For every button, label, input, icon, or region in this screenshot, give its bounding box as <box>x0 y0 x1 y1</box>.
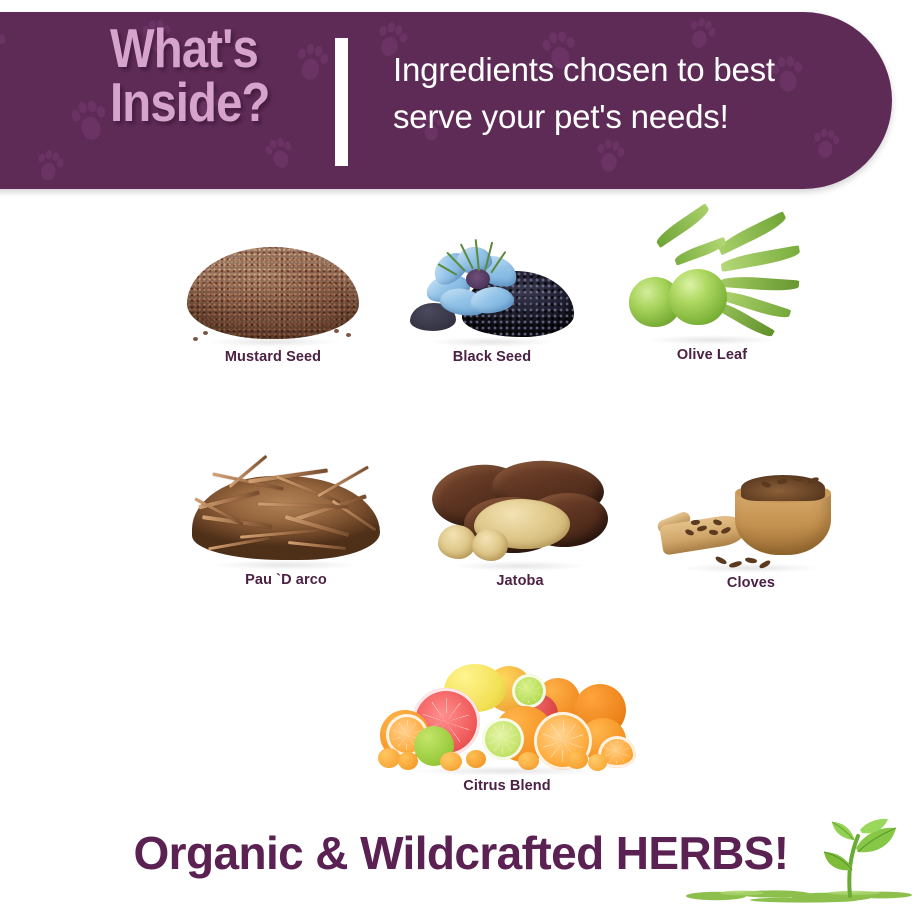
ingredient-cloves[interactable]: Cloves <box>656 463 846 591</box>
footer: Organic & Wildcrafted HERBS! <box>0 826 922 906</box>
mustard-seed-image <box>187 235 359 343</box>
ingredient-olive-leaf[interactable]: Olive Leaf <box>626 233 798 363</box>
pau-darco-image <box>188 458 384 566</box>
banner-subheading: Ingredients chosen to best serve your pe… <box>393 47 883 141</box>
banner-divider <box>335 38 348 166</box>
ingredient-label: Black Seed <box>407 349 577 365</box>
ingredient-label: Cloves <box>656 575 846 591</box>
ingredient-black-seed[interactable]: Black Seed <box>407 235 577 365</box>
ingredient-label: Citrus Blend <box>377 778 637 794</box>
cloves-image <box>657 463 845 569</box>
ingredient-label: Pau `D arco <box>186 572 386 588</box>
ingredient-jatoba[interactable]: Jatoba <box>428 457 612 589</box>
nigella-flower <box>426 239 530 317</box>
olive-leaf-image <box>627 233 797 341</box>
ingredient-citrus-blend[interactable]: Citrus Blend <box>377 660 637 794</box>
footer-title: Organic & Wildcrafted HERBS! <box>0 826 922 880</box>
citrus-blend-image <box>378 660 636 772</box>
ingredient-mustard-seed[interactable]: Mustard Seed <box>185 235 361 365</box>
ingredient-label: Mustard Seed <box>185 349 361 365</box>
black-seed-image <box>408 235 576 343</box>
ingredient-label: Jatoba <box>428 573 612 589</box>
product-ingredients-infographic: What's Inside? Ingredients chosen to bes… <box>0 0 922 906</box>
ingredient-label: Olive Leaf <box>626 347 798 363</box>
ingredient-pau-darco[interactable]: Pau `D arco <box>186 458 386 588</box>
banner-heading: What's Inside? <box>110 22 325 130</box>
jatoba-image <box>430 457 610 567</box>
